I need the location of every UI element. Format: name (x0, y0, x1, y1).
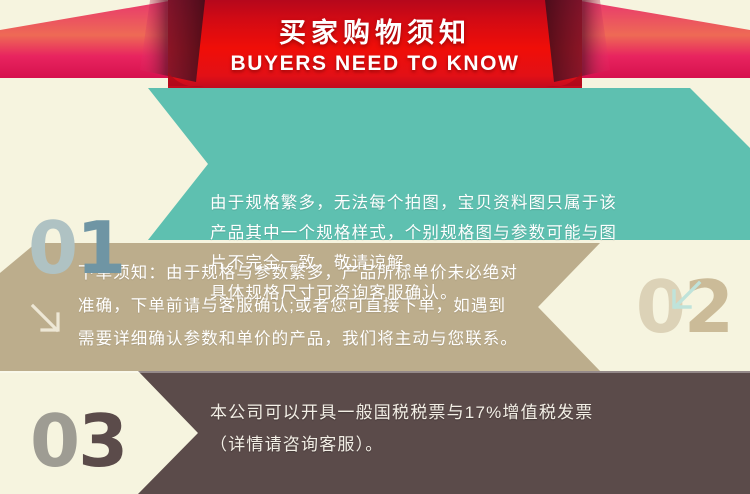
banner-ribbon: 买家购物须知 BUYERS NEED TO KNOW (0, 0, 750, 96)
banner-title-en: BUYERS NEED TO KNOW (0, 51, 750, 77)
section-03-line-1: 本公司可以开具一般国税税票与17%增值税发票 (210, 397, 710, 429)
section-03-line-2: （详情请咨询客服）。 (210, 429, 710, 461)
section-01-digit-1: 0 (28, 206, 76, 290)
section-03-text: 本公司可以开具一般国税税票与17%增值税发票 （详情请咨询客服）。 (210, 397, 710, 461)
banner-title-cn: 买家购物须知 (0, 16, 750, 50)
section-01: 01 由于规格繁多，无法每个拍图，宝贝资料图只属于该 产品其中一个规格样式，个别… (0, 88, 750, 243)
section-01-line-4: 具体规格尺寸可咨询客服确认。 (210, 278, 675, 308)
arrow-down-left-icon (668, 278, 704, 314)
section-01-number: 01 (28, 206, 124, 290)
section-03-hairline (0, 371, 750, 373)
section-02-line-3: 需要详细确认参数和单价的产品，我们将主动与您联系。 (78, 323, 538, 356)
section-03-digit-1: 0 (30, 399, 78, 483)
buyer-notice-page: 松邦 TEL:51887886 (0, 0, 750, 494)
section-01-digit-2: 1 (76, 206, 124, 290)
arrow-down-right-icon (28, 301, 64, 337)
section-03-number: 03 (30, 399, 126, 483)
section-03-digit-2: 3 (78, 399, 126, 483)
section-01-line-1: 由于规格繁多，无法每个拍图，宝贝资料图只属于该 (210, 188, 675, 218)
section-01-line-3: 片不完全一致，敬请谅解。 (210, 248, 675, 278)
section-01-line-2: 产品其中一个规格样式，个别规格图与参数可能与图 (210, 218, 675, 248)
section-03: 03 本公司可以开具一般国税税票与17%增值税发票 （详情请咨询客服）。 (0, 371, 750, 494)
section-01-text: 由于规格繁多，无法每个拍图，宝贝资料图只属于该 产品其中一个规格样式，个别规格图… (210, 188, 675, 308)
section-01-corner-cut (690, 88, 750, 148)
